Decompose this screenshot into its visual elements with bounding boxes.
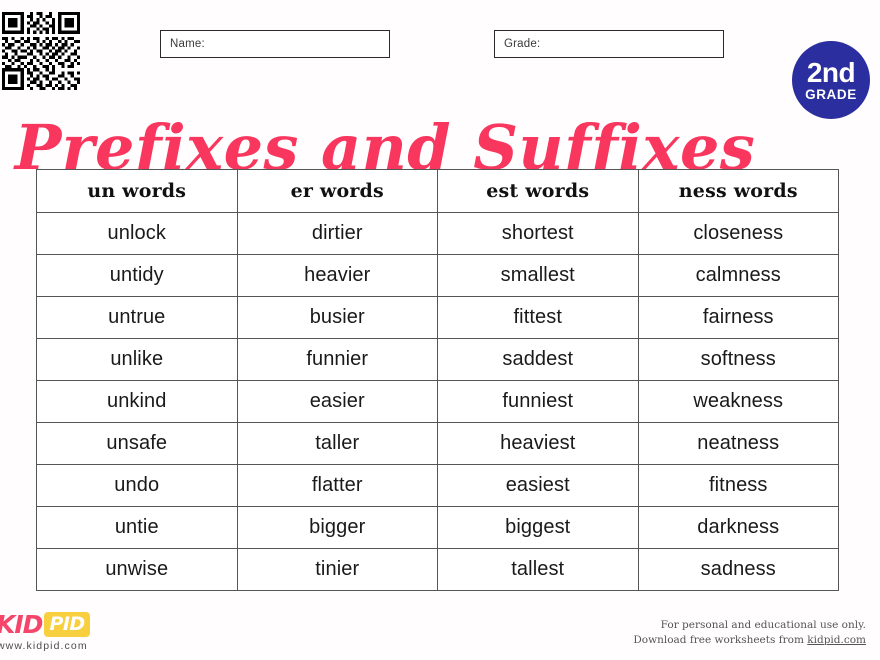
table-cell: neatness <box>638 423 839 465</box>
logo-text-pid: PID <box>44 612 89 637</box>
table-cell: unwise <box>37 549 238 591</box>
table-row: untidy heavier smallest calmness <box>37 255 839 297</box>
grade-field[interactable]: Grade: <box>494 30 724 58</box>
table-cell: sadness <box>638 549 839 591</box>
table-cell: fairness <box>638 297 839 339</box>
table-cell: bigger <box>237 507 438 549</box>
grade-level-badge: 2nd GRADE <box>792 41 870 119</box>
table-cell: flatter <box>237 465 438 507</box>
table-cell: untrue <box>37 297 238 339</box>
table-row: undo flatter easiest fitness <box>37 465 839 507</box>
column-header-est: est words <box>438 170 639 213</box>
table-cell: saddest <box>438 339 639 381</box>
table-cell: biggest <box>438 507 639 549</box>
table-cell: fittest <box>438 297 639 339</box>
table-cell: unkind <box>37 381 238 423</box>
table-header-row: un words er words est words ness words <box>37 170 839 213</box>
table-cell: closeness <box>638 213 839 255</box>
footer-notice-line-one: For personal and educational use only. <box>633 618 866 633</box>
table-row: unsafe taller heaviest neatness <box>37 423 839 465</box>
table-cell: smallest <box>438 255 639 297</box>
table-cell: shortest <box>438 213 639 255</box>
table-cell: busier <box>237 297 438 339</box>
table-cell: calmness <box>638 255 839 297</box>
table-cell: unsafe <box>37 423 238 465</box>
kidpid-logo: KID PID www.kidpid.com <box>0 611 200 652</box>
table-cell: easier <box>237 381 438 423</box>
table-cell: untidy <box>37 255 238 297</box>
table-row: untrue busier fittest fairness <box>37 297 839 339</box>
name-field-label: Name: <box>170 38 205 50</box>
table-row: unlike funnier saddest softness <box>37 339 839 381</box>
table-cell: undo <box>37 465 238 507</box>
logo-wordmark: KID PID <box>0 611 200 637</box>
qr-code-icon <box>2 12 80 90</box>
column-header-er: er words <box>237 170 438 213</box>
table-cell: heaviest <box>438 423 639 465</box>
table-cell: weakness <box>638 381 839 423</box>
table-cell: tinier <box>237 549 438 591</box>
table-cell: funniest <box>438 381 639 423</box>
table-row: unkind easier funniest weakness <box>37 381 839 423</box>
logo-text-kid: KID <box>0 610 42 639</box>
table-cell: easiest <box>438 465 639 507</box>
table-cell: softness <box>638 339 839 381</box>
logo-url: www.kidpid.com <box>0 640 200 652</box>
table-cell: untie <box>37 507 238 549</box>
table-cell: darkness <box>638 507 839 549</box>
footer-notice-line-two: Download free worksheets from kidpid.com <box>633 633 866 648</box>
table-cell: dirtier <box>237 213 438 255</box>
table-header: un words er words est words ness words <box>37 170 839 213</box>
table-row: unlock dirtier shortest closeness <box>37 213 839 255</box>
grade-field-label: Grade: <box>504 38 540 50</box>
grade-badge-number: 2nd <box>807 59 855 87</box>
table-body: unlock dirtier shortest closeness untidy… <box>37 213 839 591</box>
column-header-ness: ness words <box>638 170 839 213</box>
table-cell: unlike <box>37 339 238 381</box>
table-row: unwise tinier tallest sadness <box>37 549 839 591</box>
grade-badge-word: GRADE <box>805 88 857 102</box>
name-field[interactable]: Name: <box>160 30 390 58</box>
table-cell: heavier <box>237 255 438 297</box>
table-cell: funnier <box>237 339 438 381</box>
table-cell: taller <box>237 423 438 465</box>
table-cell: fitness <box>638 465 839 507</box>
footer-notice-link[interactable]: kidpid.com <box>807 634 866 646</box>
footer-notice: For personal and educational use only. D… <box>633 618 866 648</box>
footer-notice-prefix: Download free worksheets from <box>633 634 807 646</box>
table-cell: unlock <box>37 213 238 255</box>
word-table: un words er words est words ness words u… <box>36 169 839 591</box>
table-row: untie bigger biggest darkness <box>37 507 839 549</box>
table-cell: tallest <box>438 549 639 591</box>
column-header-un: un words <box>37 170 238 213</box>
